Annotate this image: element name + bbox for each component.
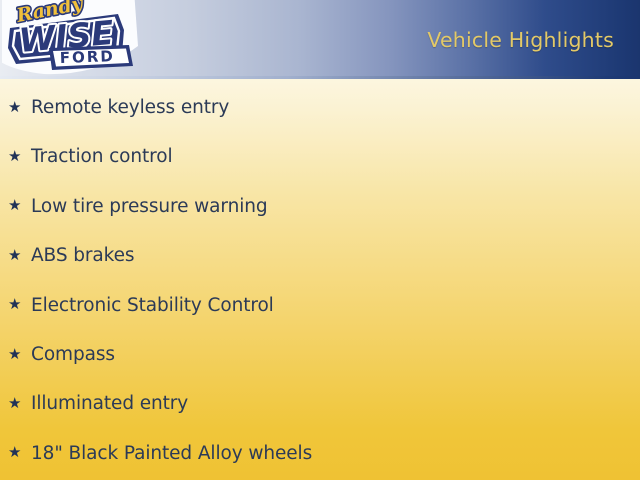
- vehicle-highlights-list: ★Remote keyless entry★Traction control★L…: [0, 79, 640, 480]
- star-bullet-icon: ★: [8, 445, 24, 460]
- highlight-item-label: Remote keyless entry: [31, 97, 229, 118]
- highlight-item-label: 18" Black Painted Alloy wheels: [31, 443, 312, 464]
- vehicle-highlights-page: WISE WISE Randy Randy FORD Vehicle Highl…: [0, 0, 640, 480]
- dealer-logo[interactable]: WISE WISE Randy Randy FORD: [2, 0, 142, 79]
- header-bar: WISE WISE Randy Randy FORD Vehicle Highl…: [0, 0, 640, 79]
- highlight-item: ★18" Black Painted Alloy wheels: [8, 443, 312, 464]
- star-bullet-icon: ★: [8, 100, 24, 115]
- highlight-item-label: Electronic Stability Control: [31, 295, 274, 316]
- star-bullet-icon: ★: [8, 248, 24, 263]
- highlight-item: ★Low tire pressure warning: [8, 196, 268, 217]
- star-bullet-icon: ★: [8, 347, 24, 362]
- star-bullet-icon: ★: [8, 396, 24, 411]
- highlight-item-label: Illuminated entry: [31, 393, 188, 414]
- star-bullet-icon: ★: [8, 198, 24, 213]
- highlight-item: ★Illuminated entry: [8, 393, 188, 414]
- highlight-item-label: Traction control: [31, 146, 173, 167]
- highlight-item: ★ABS brakes: [8, 245, 134, 266]
- highlight-item: ★Remote keyless entry: [8, 97, 229, 118]
- page-title: Vehicle Highlights: [427, 28, 614, 52]
- highlight-item: ★Compass: [8, 344, 115, 365]
- star-bullet-icon: ★: [8, 149, 24, 164]
- highlight-item: ★Traction control: [8, 146, 173, 167]
- dealer-logo-graphic: WISE WISE Randy Randy FORD: [2, 0, 142, 79]
- logo-ford-text: FORD: [60, 47, 116, 67]
- highlight-item-label: Low tire pressure warning: [31, 196, 268, 217]
- highlight-item-label: Compass: [31, 344, 115, 365]
- highlight-item-label: ABS brakes: [31, 245, 134, 266]
- star-bullet-icon: ★: [8, 297, 24, 312]
- highlight-item: ★Electronic Stability Control: [8, 295, 274, 316]
